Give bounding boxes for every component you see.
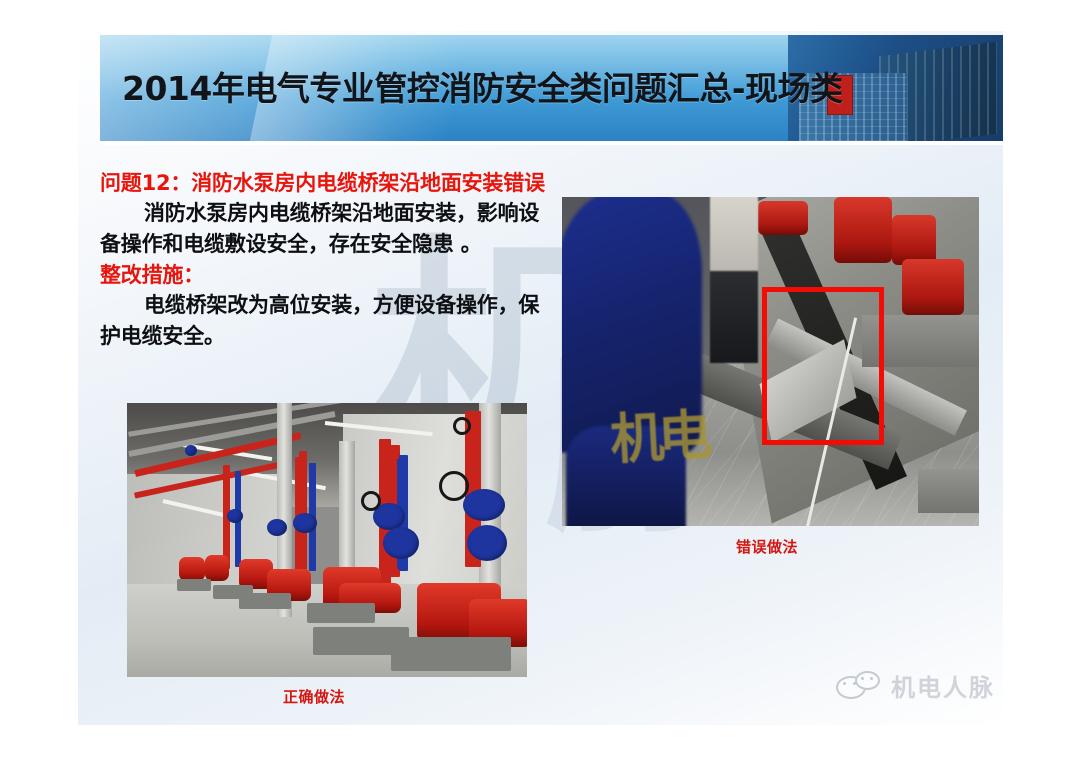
- wechat-brand-label: 机电人脉: [891, 668, 995, 703]
- wechat-watermark: 机电人脉: [836, 668, 995, 703]
- pump-base: [391, 637, 511, 671]
- pump-base: [177, 579, 211, 591]
- blue-valve: [185, 445, 197, 456]
- blue-valve: [293, 513, 317, 533]
- wechat-eye-dot: [843, 682, 846, 685]
- wechat-eye-dot: [861, 677, 864, 680]
- person-background: [710, 197, 758, 363]
- wechat-bubble-small: [855, 671, 880, 690]
- valve-handwheel: [439, 471, 469, 501]
- header-underline: [100, 141, 1003, 145]
- fire-pump: [892, 215, 936, 265]
- valve-handwheel: [361, 491, 381, 511]
- fire-pump: [179, 557, 205, 581]
- fire-pump: [902, 259, 964, 315]
- blue-valve: [463, 489, 505, 521]
- pump-base: [307, 603, 375, 623]
- problem-heading: 问题12：消防水泵房内电缆桥架沿地面安装错误: [100, 168, 552, 198]
- photo-correct-practice: [127, 403, 527, 677]
- highlight-box: [762, 287, 884, 445]
- measure-heading: 整改措施：: [100, 260, 552, 290]
- caption-wrong-practice: 错误做法: [736, 536, 798, 557]
- fire-pump: [205, 555, 229, 581]
- wechat-eye-dot: [853, 682, 856, 685]
- page-title: 2014年电气专业管控消防安全类问题汇总-现场类: [122, 62, 843, 110]
- blue-valve: [383, 527, 419, 559]
- gold-watermark-text: 机电: [608, 391, 708, 475]
- fire-pump: [758, 201, 808, 235]
- blue-valve: [227, 509, 243, 523]
- pump-base: [239, 593, 291, 609]
- caption-correct-practice: 正确做法: [283, 686, 345, 707]
- slide-canvas: 机 脉 2014年电气专业管控消防安全类问题汇总-现场类 问题12：消防水泵房内…: [78, 31, 1003, 725]
- body-text-column: 问题12：消防水泵房内电缆桥架沿地面安装错误 消防水泵房内电缆桥架沿地面安装，影…: [100, 168, 552, 352]
- pump-plinth: [918, 469, 979, 513]
- measure-description: 电缆桥架改为高位安装，方便设备操作，保护电缆安全。: [100, 290, 552, 352]
- valve-handwheel: [453, 417, 471, 435]
- blue-valve: [267, 519, 287, 536]
- wechat-eye-dot: [870, 677, 873, 680]
- wechat-icon: [836, 671, 882, 701]
- photo-wrong-practice: 机电: [562, 197, 979, 526]
- fire-pump: [834, 197, 892, 263]
- blue-valve: [467, 525, 507, 561]
- slide-header-banner: 2014年电气专业管控消防安全类问题汇总-现场类: [100, 35, 1003, 141]
- problem-description: 消防水泵房内电缆桥架沿地面安装，影响设备操作和电缆敷设安全，存在安全隐患 。: [100, 198, 552, 260]
